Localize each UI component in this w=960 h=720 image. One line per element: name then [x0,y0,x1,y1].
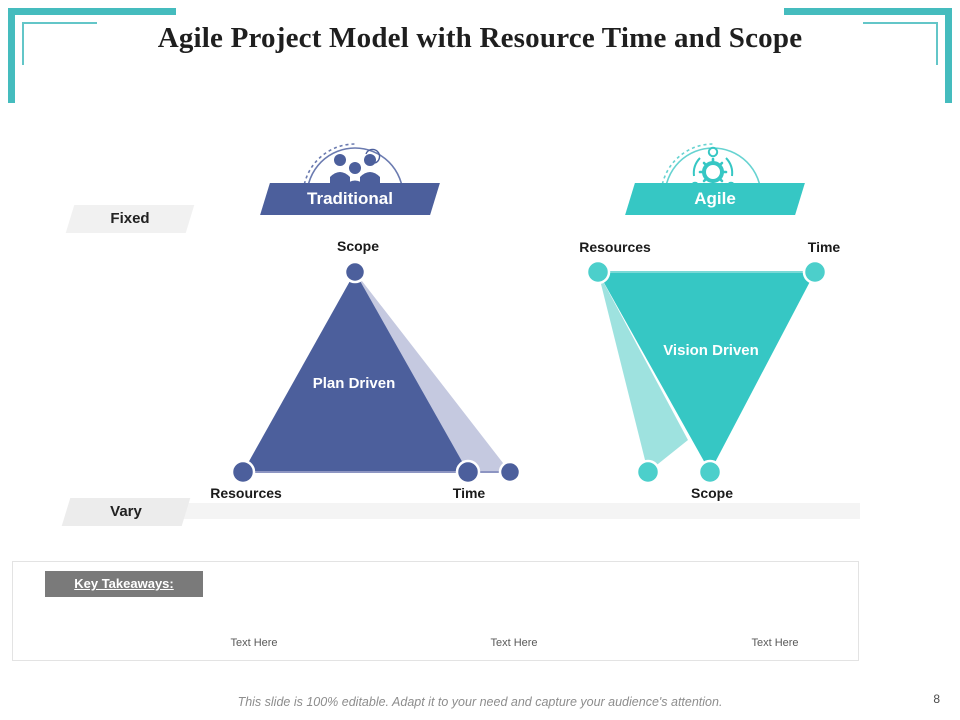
caption-traditional: Plan Driven [313,375,396,392]
agile-nodes [587,261,826,483]
node-agile-scope[interactable] [699,461,721,483]
banner-agile-label: Agile [630,183,800,215]
caption-agile: Vision Driven [663,342,759,359]
agile-triangle [598,272,815,472]
corner-frame-top-left-horizontal [8,8,176,15]
corner-frame-top-right-horizontal [784,8,952,15]
label-agile-time: Time [808,239,840,255]
takeaway-label-1[interactable]: Text Here [230,637,277,649]
axis-tag-fixed-label: Fixed [70,205,190,233]
banner-agile[interactable]: Agile [625,183,805,215]
page-title: Agile Project Model with Resource Time a… [0,22,960,55]
node-agile-time[interactable] [804,261,826,283]
page-number: 8 [933,692,940,706]
label-traditional-time: Time [453,485,485,501]
takeaway-label-2[interactable]: Text Here [490,637,537,649]
traditional-triangle [243,272,510,472]
axis-tag-vary-label: Vary [66,498,186,526]
traditional-nodes [232,262,520,483]
node-traditional-time[interactable] [457,461,479,483]
node-agile-resources[interactable] [587,261,609,283]
label-agile-scope: Scope [691,485,733,501]
label-traditional-scope: Scope [337,238,379,254]
node-traditional-shadow[interactable] [500,462,520,482]
node-traditional-resources[interactable] [232,461,254,483]
label-agile-resources: Resources [579,239,651,255]
vary-track-bar [140,503,860,519]
banner-traditional[interactable]: Traditional [260,183,440,215]
footer-note: This slide is 100% editable. Adapt it to… [0,695,960,709]
label-traditional-resources: Resources [210,485,282,501]
node-traditional-scope[interactable] [345,262,365,282]
takeaway-label-3[interactable]: Text Here [751,637,798,649]
axis-tag-vary: Vary [62,498,191,526]
takeaways-heading: Key Takeaways: [45,571,203,597]
banner-traditional-label: Traditional [265,183,435,215]
node-agile-shadow[interactable] [637,461,659,483]
axis-tag-fixed: Fixed [66,205,195,233]
